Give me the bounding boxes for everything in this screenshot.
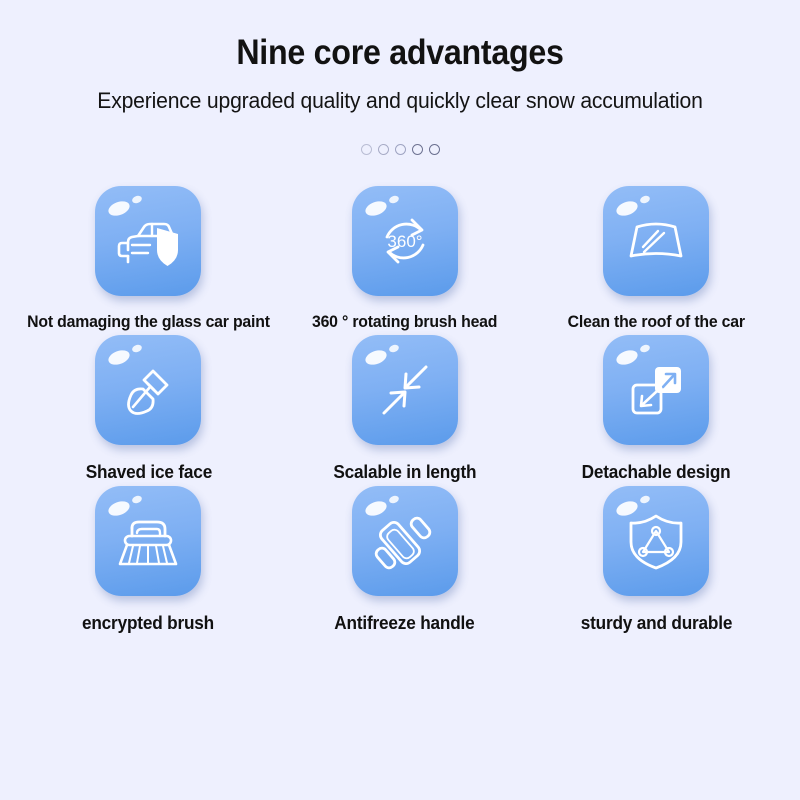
feature-tile[interactable] — [95, 335, 201, 445]
feature-tile[interactable] — [603, 335, 709, 445]
feature-item-scalable[interactable]: Scalable in length — [279, 335, 531, 483]
feature-label: 360 ° rotating brush head — [312, 312, 497, 332]
feature-label: Detachable design — [582, 461, 731, 483]
feature-tile[interactable] — [603, 186, 709, 296]
feature-item-car-shield[interactable]: Not damaging the glass car paint — [18, 186, 279, 332]
pagination-dot-4[interactable] — [412, 144, 423, 155]
feature-item-rotate-360[interactable]: 360° 360 ° rotating brush head — [279, 186, 531, 332]
feature-tile[interactable] — [352, 335, 458, 445]
pagination-dot-3[interactable] — [395, 144, 406, 155]
page-header: Nine core advantages Experience upgraded… — [0, 0, 800, 114]
feature-item-detachable[interactable]: Detachable design — [530, 335, 782, 483]
resize-arrows-icon — [374, 359, 436, 421]
feature-item-handle[interactable]: Antifreeze handle — [279, 486, 531, 634]
pagination-dot-1[interactable] — [361, 144, 372, 155]
rotate-360-badge: 360° — [387, 232, 422, 251]
feature-tile[interactable] — [352, 486, 458, 596]
pagination-dot-2[interactable] — [378, 144, 389, 155]
feature-item-car-roof[interactable]: Clean the roof of the car — [530, 186, 782, 332]
feature-label: Not damaging the glass car paint — [27, 312, 270, 332]
feature-label: encrypted brush — [82, 612, 214, 634]
shield-nodes-icon — [626, 510, 686, 572]
feature-item-brush[interactable]: encrypted brush — [18, 486, 279, 634]
feature-label: Scalable in length — [333, 461, 476, 483]
feature-tile[interactable] — [95, 486, 201, 596]
feature-item-ice-shovel[interactable]: Shaved ice face — [18, 335, 279, 483]
page-title: Nine core advantages — [32, 33, 768, 73]
pagination-dot-5[interactable] — [429, 144, 440, 155]
feature-tile[interactable] — [603, 486, 709, 596]
brush-icon — [115, 512, 181, 570]
feature-label: Antifreeze handle — [335, 612, 475, 634]
feature-label: Clean the roof of the car — [568, 312, 745, 332]
detachable-squares-icon — [625, 359, 687, 421]
ice-shovel-icon — [117, 359, 179, 421]
feature-label: Shaved ice face — [85, 461, 211, 483]
feature-tile[interactable] — [95, 186, 201, 296]
features-grid: Not damaging the glass car paint 360° 36… — [0, 186, 800, 634]
feature-item-sturdy[interactable]: sturdy and durable — [530, 486, 782, 634]
car-shield-icon — [114, 212, 182, 270]
feature-label: sturdy and durable — [580, 612, 732, 634]
rotate-360-icon: 360° — [374, 210, 436, 272]
car-roof-icon — [624, 214, 688, 268]
page-subtitle: Experience upgraded quality and quickly … — [24, 88, 776, 114]
handle-grip-icon — [374, 510, 436, 572]
feature-tile[interactable]: 360° — [352, 186, 458, 296]
carousel-pagination[interactable] — [0, 144, 800, 155]
